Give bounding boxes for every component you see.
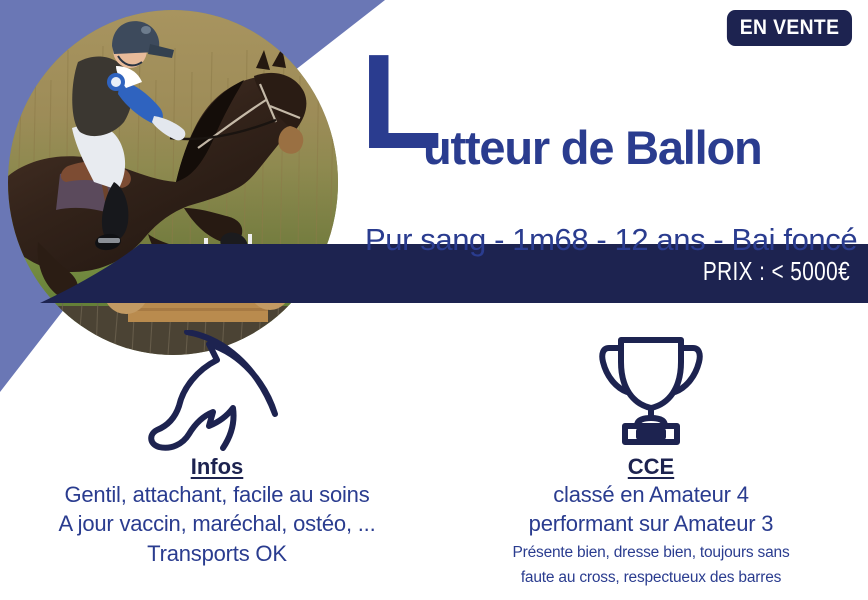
trophy-icon <box>595 330 707 448</box>
headline-block: L utteur de Ballon Pur sang - 1m68 - 12 … <box>355 40 860 190</box>
name-remainder: utteur de Ballon <box>423 120 762 175</box>
horse-photo-illustration <box>8 10 338 355</box>
column-cce: CCE classé en Amateur 4 performant sur A… <box>434 330 868 600</box>
info-columns: Infos Gentil, attachant, facile au soins… <box>0 330 868 600</box>
column-infos-line-1: Gentil, attachant, facile au soins <box>64 480 369 509</box>
price-label: PRIX : < 5000€ <box>703 256 850 287</box>
horse-photo <box>8 10 338 355</box>
column-infos: Infos Gentil, attachant, facile au soins… <box>0 330 434 600</box>
column-infos-line-3: Transports OK <box>147 539 287 568</box>
column-cce-line-1: classé en Amateur 4 <box>553 480 749 509</box>
column-infos-heading: Infos <box>191 454 244 480</box>
column-infos-line-2: A jour vaccin, maréchal, ostéo, ... <box>58 509 375 538</box>
horse-subtitle: Pur sang - 1m68 - 12 ans - Bai foncé <box>365 222 857 258</box>
column-cce-small-line-2: faute au cross, respectueux des barres <box>521 568 781 589</box>
column-cce-small-line-1: Présente bien, dresse bien, toujours san… <box>513 543 790 564</box>
column-cce-heading: CCE <box>628 454 674 480</box>
column-cce-line-2: performant sur Amateur 3 <box>529 509 774 538</box>
horse-head-icon <box>147 330 287 452</box>
horse-sale-poster: PRIX : < 5000€ EN VENTE L utteur de Ball… <box>0 0 868 600</box>
horse-name: L utteur de Ballon <box>355 40 860 190</box>
